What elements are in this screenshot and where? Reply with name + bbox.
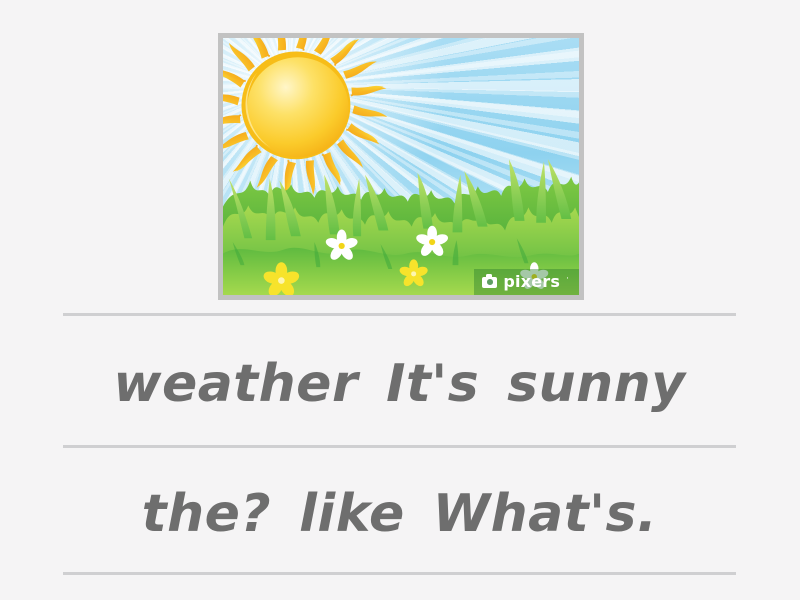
word-tile[interactable]: It's (386, 358, 479, 410)
grass-graphic (223, 38, 579, 295)
word-row-1: weather It's sunny (63, 330, 736, 438)
divider-top (63, 313, 736, 316)
activity-stage: pixers · weather It's sunny the? like Wh… (0, 0, 800, 600)
word-tile[interactable]: weather (113, 358, 358, 410)
word-tile[interactable]: the? (142, 488, 271, 540)
word-tile[interactable]: sunny (507, 358, 685, 410)
word-tile[interactable]: What's. (433, 488, 657, 540)
pixers-watermark: pixers · (474, 269, 579, 295)
word-tile[interactable]: like (299, 488, 405, 540)
camera-icon (482, 277, 497, 288)
divider-bottom (63, 572, 736, 575)
prompt-image-card[interactable]: pixers · (218, 33, 584, 300)
watermark-trademark: · (566, 275, 569, 284)
divider-middle (63, 445, 736, 448)
watermark-label: pixers (503, 274, 560, 290)
word-row-2: the? like What's. (63, 460, 736, 568)
prompt-image: pixers · (223, 38, 579, 295)
